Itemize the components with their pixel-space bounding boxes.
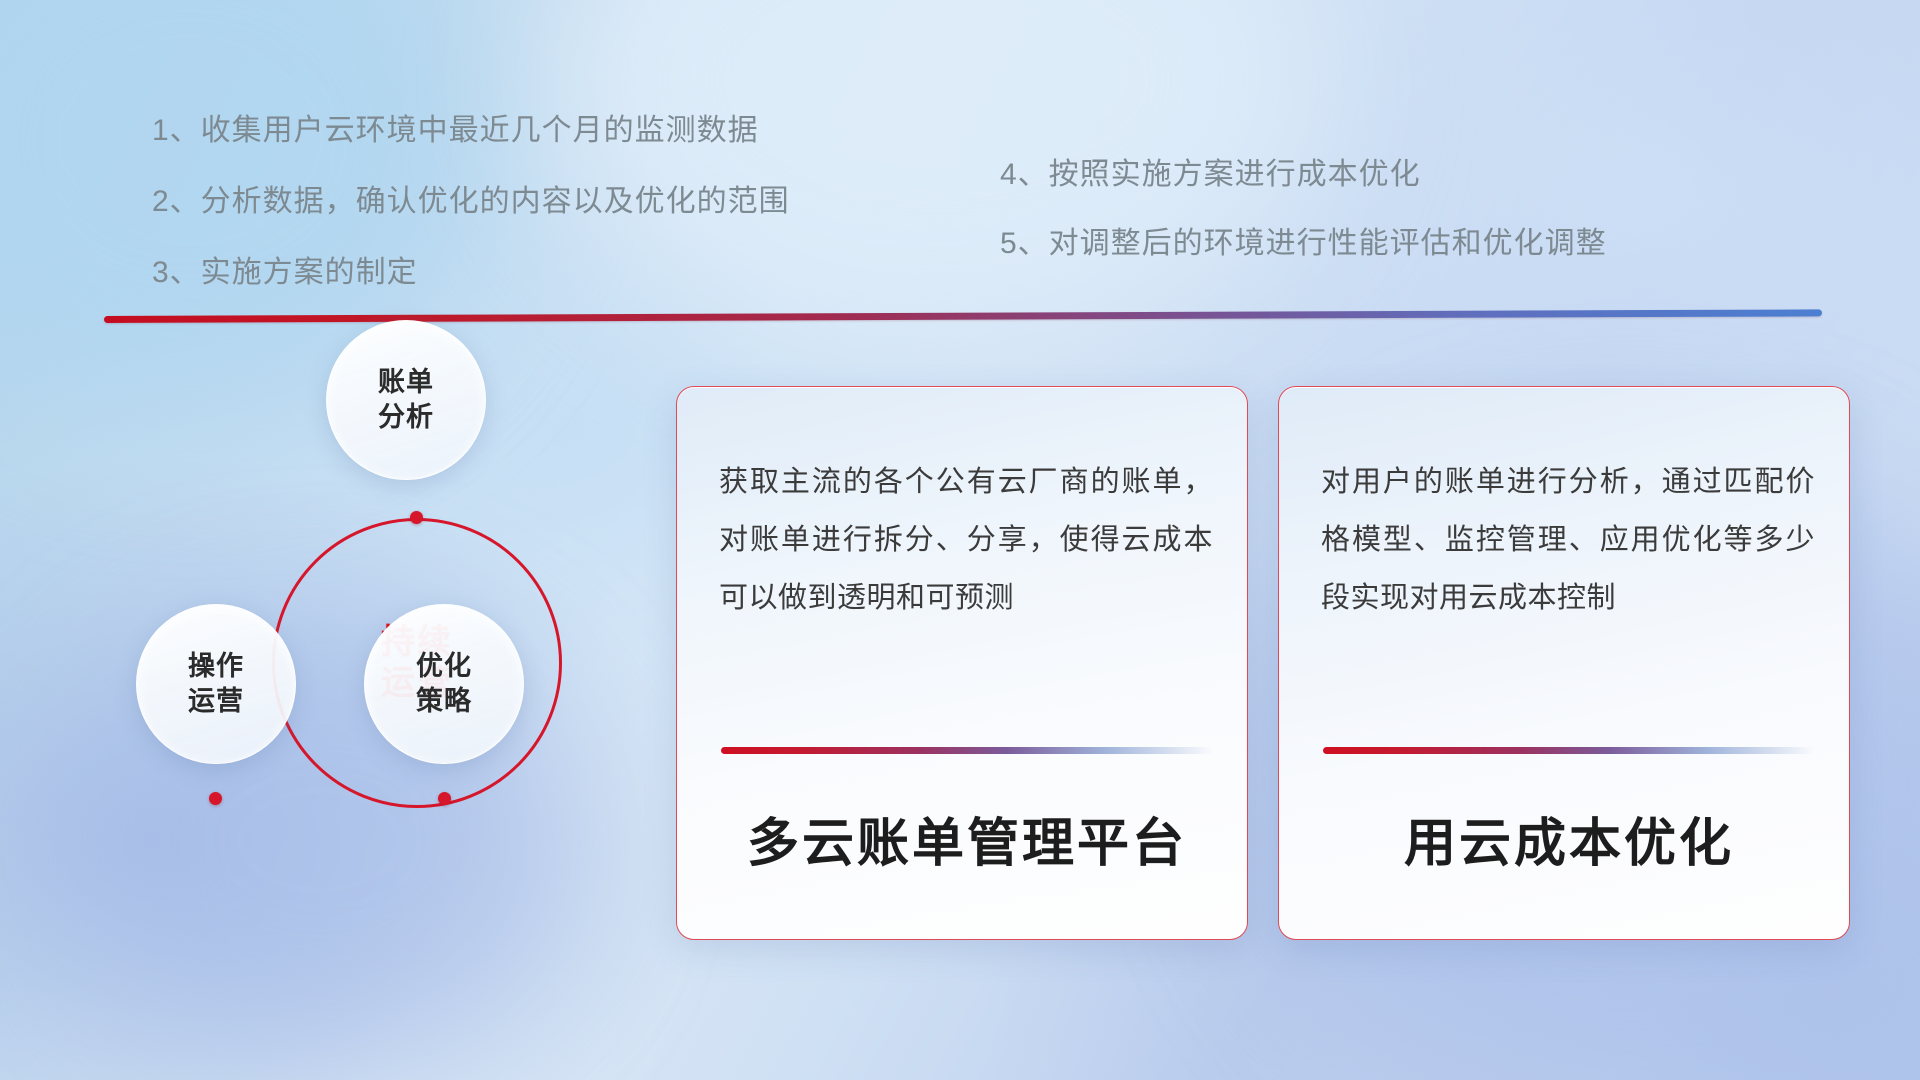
card-2-body-text: 对用户的账单进行分析，通过匹配价格模型、监控管理、应用优化等多少段实现对用云成本…	[1321, 453, 1815, 627]
step-item-5: 5、对调整后的环境进行性能评估和优化调整	[1000, 229, 1607, 259]
step-item-1: 1、收集用户云环境中最近几个月的监测数据	[152, 116, 790, 146]
card-1-body-text: 获取主流的各个公有云厂商的账单，对账单进行拆分、分享，使得云成本可以做到透明和可…	[719, 453, 1213, 627]
card-1-accent-rule	[721, 747, 1213, 754]
diagram-bubble-operations-label: 操作 运营	[188, 649, 244, 718]
card-multicloud-billing-platform[interactable]: 获取主流的各个公有云厂商的账单，对账单进行拆分、分享，使得云成本可以做到透明和可…	[676, 386, 1248, 940]
card-2-title: 用云成本优化	[1319, 813, 1819, 875]
continuous-operation-diagram: 持续 运营 账单 分析 操作 运营 优化 策略	[96, 348, 596, 948]
steps-list: 1、收集用户云环境中最近几个月的监测数据 2、分析数据，确认优化的内容以及优化的…	[0, 0, 1920, 300]
diagram-bubble-bill-analysis[interactable]: 账单 分析	[326, 320, 486, 480]
card-2-accent-rule	[1323, 747, 1815, 754]
steps-right-column: 4、按照实施方案进行成本优化 5、对调整后的环境进行性能评估和优化调整	[1000, 160, 1607, 298]
connector-dot-top	[410, 511, 423, 524]
steps-left-column: 1、收集用户云环境中最近几个月的监测数据 2、分析数据，确认优化的内容以及优化的…	[152, 116, 790, 329]
diagram-bubble-optimization-strategy[interactable]: 优化 策略	[364, 604, 524, 764]
connector-dot-bottom-right	[438, 792, 451, 805]
diagram-bubble-operations[interactable]: 操作 运营	[136, 604, 296, 764]
step-item-4: 4、按照实施方案进行成本优化	[1000, 160, 1607, 190]
step-item-3: 3、实施方案的制定	[152, 258, 790, 288]
slide-root: 1、收集用户云环境中最近几个月的监测数据 2、分析数据，确认优化的内容以及优化的…	[0, 0, 1920, 1080]
diagram-bubble-bill-analysis-label: 账单 分析	[378, 365, 434, 434]
connector-dot-bottom-left	[209, 792, 222, 805]
card-cloud-cost-optimization[interactable]: 对用户的账单进行分析，通过匹配价格模型、监控管理、应用优化等多少段实现对用云成本…	[1278, 386, 1850, 940]
card-1-title: 多云账单管理平台	[717, 813, 1217, 875]
diagram-bubble-optimization-strategy-label: 优化 策略	[416, 649, 472, 718]
step-item-2: 2、分析数据，确认优化的内容以及优化的范围	[152, 187, 790, 217]
